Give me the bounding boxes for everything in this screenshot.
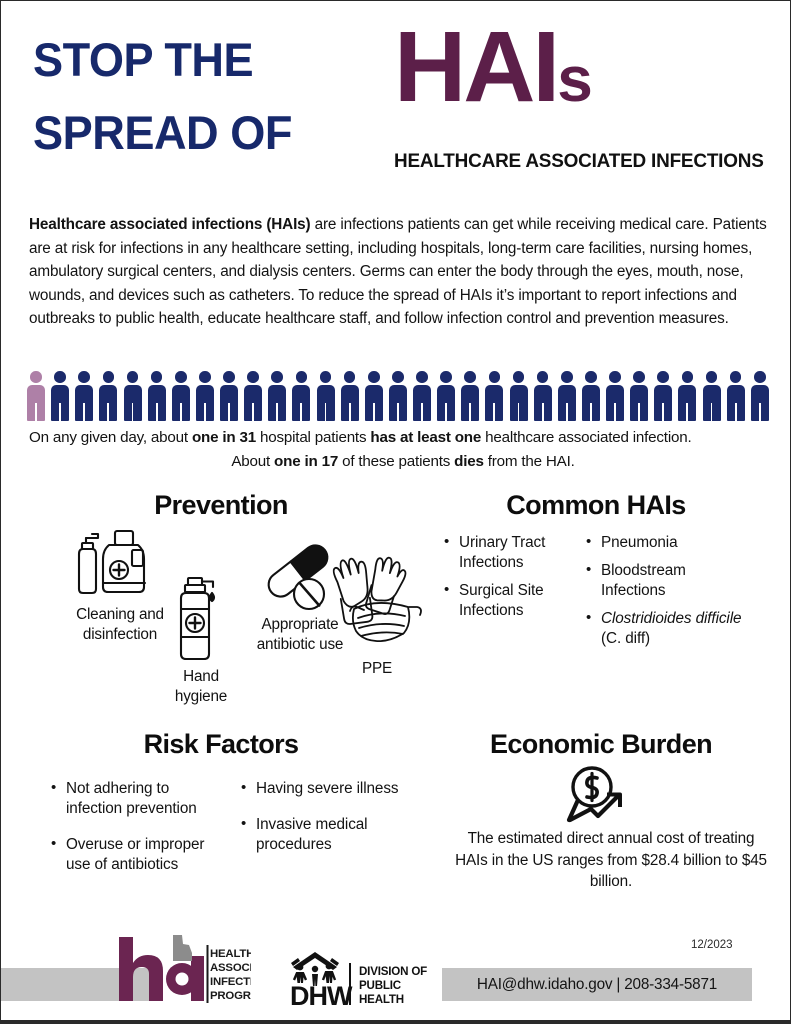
hai-logo-line-1: HEALTHCARE [210,948,251,960]
person-head [223,371,235,383]
prevention-icon-group: Cleaning and disinfection [29,523,419,693]
common-hai-item-text: Pneumonia [601,534,678,551]
hais-wordmark-main: HAI [394,11,557,123]
person-head [489,371,501,383]
person-leg-gap [518,403,520,421]
person-leg-gap [638,403,640,421]
person-head [730,371,742,383]
stat1-part-a: On any given day, about [29,429,192,446]
economic-burden-section-title: Economic Burden [421,729,781,760]
person-leg-gap [132,403,134,421]
infographic-page: STOP THE SPREAD OF HAIs HEALTHCARE ASSOC… [0,0,791,1024]
hai-logo-line-3: INFECTIONS [210,976,251,988]
person-leg-gap [300,403,302,421]
person-leg-gap [349,403,351,421]
risk-factors-section-title: Risk Factors [41,729,401,760]
person-head [127,371,139,383]
person-leg-gap [180,403,182,421]
person-leg-gap [107,403,109,421]
person-icon [703,371,721,421]
prevention-label-ppe: PPE [317,659,437,679]
hais-wordmark: HAIs [394,17,591,117]
person-icon [582,371,600,421]
person-leg-gap [325,403,327,421]
person-icon [461,371,479,421]
common-hai-item-text: Surgical Site Infections [459,582,544,619]
list-item: Not adhering to infection prevention [49,779,229,819]
prevention-label-hand-l2: hygiene [141,687,261,707]
hai-program-logo: HEALTHCARE ASSOCIATED INFECTIONS PROGRAM [111,933,251,1011]
person-leg-gap [493,403,495,421]
economic-burden-text: The estimated direct annual cost of trea… [451,828,771,893]
stat2-part-c: of these patients [338,453,454,470]
dollar-magnifier-growth-arrow-icon [564,765,630,825]
person-head [440,371,452,383]
person-icon [341,371,359,421]
person-head [320,371,332,383]
person-leg-gap [686,403,688,421]
person-icon [148,371,166,421]
dhw-logo-text: DIVISION OF PUBLIC HEALTH [359,965,427,1006]
footer-date: 12/2023 [691,939,733,951]
person-head [706,371,718,383]
person-head [416,371,428,383]
stat2-part-a: About [231,453,274,470]
person-icon [365,371,383,421]
person-icon [485,371,503,421]
person-leg-gap [252,403,254,421]
common-hai-item-italic: Clostridioides difficile [601,610,741,627]
list-item: Clostridioides difficile (C. diff) [584,609,744,649]
person-head [199,371,211,383]
person-icon [510,371,528,421]
person-head [633,371,645,383]
person-head [54,371,66,383]
intro-paragraph: Healthcare associated infections (HAIs) … [29,213,777,331]
person-icon [99,371,117,421]
intro-bold-lead: Healthcare associated infections (HAIs) [29,216,310,233]
list-item: Bloodstream Infections [584,561,744,601]
person-leg-gap [421,403,423,421]
person-leg-gap [204,403,206,421]
hai-logo-text: HEALTHCARE ASSOCIATED INFECTIONS PROGRAM [210,948,251,1002]
person-head [513,371,525,383]
person-icon [292,371,310,421]
person-head [296,371,308,383]
person-head [561,371,573,383]
common-hais-section-title: Common HAIs [431,490,761,521]
person-icon [244,371,262,421]
person-icon [317,371,335,421]
person-leg-gap [228,403,230,421]
person-icon [51,371,69,421]
person-head [464,371,476,383]
dhw-logo-line-2: PUBLIC [359,979,402,992]
person-icon [654,371,672,421]
dhw-logo-divider [349,963,351,1005]
prevention-label-ppe-l1: PPE [317,659,437,679]
list-item: Having severe illness [239,779,409,799]
person-head [682,371,694,383]
person-leg-gap [711,403,713,421]
person-icon [751,371,769,421]
person-head [30,371,42,383]
list-item: Invasive medical procedures [239,815,409,855]
person-icon [558,371,576,421]
common-hai-item-text: Urinary Tract Infections [459,534,545,571]
risk-factors-column-1: Not adhering to infection prevention Ove… [49,779,229,891]
person-head [368,371,380,383]
prevention-label-hand-l1: Hand [141,667,261,687]
common-hai-item-text: Bloodstream Infections [601,562,686,599]
person-leg-gap [662,403,664,421]
prevention-item-ppe: PPE [317,545,437,679]
person-head [657,371,669,383]
stat-line-2: About one in 17 of these patients dies f… [29,453,777,470]
dhw-public-health-logo: DHW DIVISION OF PUBLIC HEALTH [289,949,439,1007]
hai-logo-mark [119,935,204,1001]
dhw-logo-wordmark: DHW [290,981,353,1007]
headline-line-1: STOP THE [33,36,253,83]
common-hais-list-1: Urinary Tract Infections Surgical Site I… [442,533,550,621]
dhw-logo-line-1: DIVISION OF [359,965,427,978]
person-head [392,371,404,383]
risk-factors-list-1: Not adhering to infection prevention Ove… [49,779,229,875]
stat1-emphasis: has at least one [370,429,481,446]
person-head [151,371,163,383]
header-banner: STOP THE SPREAD OF HAIs HEALTHCARE ASSOC… [1,1,791,189]
person-icon [437,371,455,421]
common-hai-item-text: (C. diff) [601,630,650,647]
person-icon [534,371,552,421]
person-leg-gap [590,403,592,421]
stat-line-1: On any given day, about one in 31 hospit… [29,429,777,446]
stat1-part-e: healthcare associated infection. [481,429,691,446]
person-icon [630,371,648,421]
hai-logo-divider [207,945,209,1003]
person-head [585,371,597,383]
common-hais-column-1: Urinary Tract Infections Surgical Site I… [442,533,550,629]
people-pictogram [27,367,769,421]
person-icon [413,371,431,421]
dhw-logo-line-3: HEALTH [359,993,404,1006]
footer-contact[interactable]: HAI@dhw.idaho.gov | 208-334-5871 [442,968,752,1001]
person-leg-gap [35,403,37,421]
list-item: Overuse or improper use of antibiotics [49,835,229,875]
person-leg-gap [397,403,399,421]
person-leg-gap [614,403,616,421]
person-leg-gap [759,403,761,421]
stat2-emphasis: dies [454,453,484,470]
risk-factors-column-2: Having severe illness Invasive medical p… [239,779,409,871]
person-head [78,371,90,383]
risk-factors-list-2: Having severe illness Invasive medical p… [239,779,409,855]
person-icon [220,371,238,421]
person-head [537,371,549,383]
person-head [609,371,621,383]
person-leg-gap [83,403,85,421]
person-icon [606,371,624,421]
person-leg-gap [469,403,471,421]
person-icon [678,371,696,421]
person-leg-gap [156,403,158,421]
person-head [247,371,259,383]
hai-logo-line-4: PROGRAM [210,990,251,1002]
stat1-ratio: one in 31 [192,429,256,446]
person-leg-gap [373,403,375,421]
person-leg-gap [566,403,568,421]
person-head [754,371,766,383]
person-leg-gap [59,403,61,421]
prevention-section-title: Prevention [61,490,381,521]
list-item: Pneumonia [584,533,744,553]
person-head [271,371,283,383]
stat2-ratio: one in 17 [274,453,338,470]
common-hais-column-2: Pneumonia Bloodstream Infections Clostri… [584,533,744,656]
list-item: Surgical Site Infections [442,581,550,621]
person-leg-gap [542,403,544,421]
person-icon [727,371,745,421]
person-icon-highlighted [27,371,45,421]
person-icon [196,371,214,421]
headline-line-2: SPREAD OF [33,109,292,156]
person-leg-gap [735,403,737,421]
person-head [103,371,115,383]
hais-wordmark-s: s [557,43,591,115]
hais-subtitle: HEALTHCARE ASSOCIATED INFECTIONS [394,150,764,173]
hai-logo-line-2: ASSOCIATED [210,962,251,974]
person-icon [75,371,93,421]
stat1-part-c: hospital patients [256,429,370,446]
person-icon [172,371,190,421]
person-head [175,371,187,383]
person-leg-gap [445,403,447,421]
gloves-and-mask-icon [324,545,430,657]
person-leg-gap [276,403,278,421]
person-icon [268,371,286,421]
common-hais-list-2: Pneumonia Bloodstream Infections Clostri… [584,533,744,648]
list-item: Urinary Tract Infections [442,533,550,573]
prevention-label-hand-hygiene: Hand hygiene [141,667,261,706]
stat2-part-e: from the HAI. [484,453,575,470]
dhw-logo-mark: DHW [290,952,353,1007]
person-icon [124,371,142,421]
person-icon [389,371,407,421]
person-head [344,371,356,383]
bottom-border-rule [1,1020,791,1024]
